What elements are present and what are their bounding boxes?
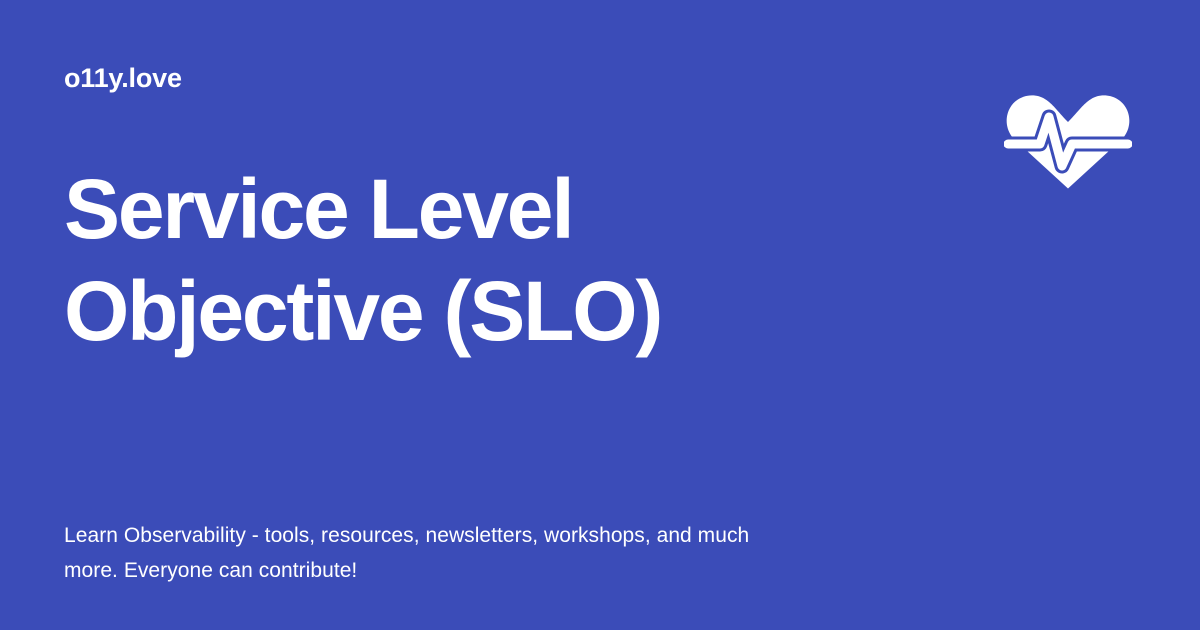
headline-container: Service Level Objective (SLO) (64, 158, 924, 362)
site-title[interactable]: o11y.love (64, 64, 182, 94)
heart-pulse-icon (1004, 84, 1132, 192)
description-container: Learn Observability - tools, resources, … (64, 518, 784, 588)
page-title: Service Level Objective (SLO) (64, 158, 924, 362)
page-description: Learn Observability - tools, resources, … (64, 518, 784, 588)
og-social-card: o11y.love Service Level Objective (SLO) … (0, 0, 1200, 630)
